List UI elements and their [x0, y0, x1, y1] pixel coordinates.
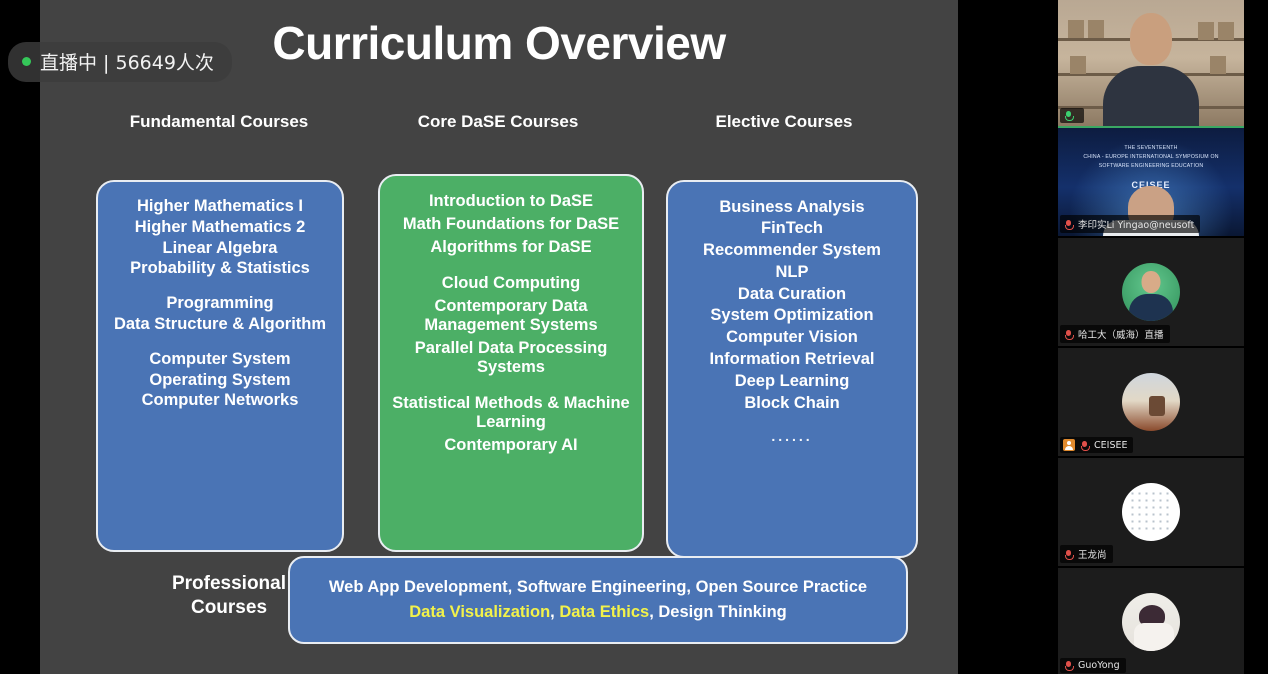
course-item: Business Analysis — [676, 196, 908, 218]
microphone-muted-icon — [1079, 440, 1090, 451]
microphone-muted-icon — [1063, 660, 1074, 671]
course-item: Deep Learning — [676, 370, 908, 392]
participant-name: CEISEE — [1094, 440, 1127, 451]
participant-tile-guoyong[interactable]: GuoYong — [1058, 568, 1244, 674]
professional-label-line1: Professional — [172, 573, 286, 594]
participant-strip[interactable]: THE SEVENTEENTHCHINA - EUROPE INTERNATIO… — [1058, 0, 1244, 674]
live-stream-app: Curriculum Overview Fundamental Courses … — [0, 0, 1268, 674]
microphone-icon — [1063, 110, 1074, 121]
microphone-muted-icon — [1063, 329, 1074, 340]
participant-name-chip: CEISEE — [1060, 437, 1133, 453]
course-item: Computer Networks — [106, 390, 334, 411]
avatar — [1122, 263, 1180, 321]
host-badge-icon — [1063, 439, 1075, 451]
participant-name-chip: 哈工大（威海）直播 — [1060, 325, 1170, 343]
course-item: Contemporary AI — [388, 434, 634, 457]
course-item: Algorithms for DaSE — [388, 236, 634, 259]
participant-name: 哈工大（威海）直播 — [1078, 327, 1164, 341]
course-group: Cloud Computing Contemporary Data Manage… — [388, 272, 634, 378]
course-group: Computer System Operating System Compute… — [106, 349, 334, 411]
course-item: Programming — [106, 293, 334, 314]
professional-line-2: Data Visualization, Data Ethics, Design … — [409, 600, 786, 625]
course-group: Introduction to DaSE Math Foundations fo… — [388, 190, 634, 258]
course-group: ...... — [676, 428, 908, 447]
highlight-data-ethics: Data Ethics — [559, 603, 649, 621]
microphone-muted-icon — [1063, 549, 1074, 560]
course-box-core-dase: Introduction to DaSE Math Foundations fo… — [378, 174, 644, 552]
avatar — [1122, 593, 1180, 651]
course-item: FinTech — [676, 218, 908, 240]
column-heading-elective: Elective Courses — [659, 112, 909, 132]
curriculum-columns: Fundamental Courses Core DaSE Courses El… — [48, 112, 950, 526]
course-item: Block Chain — [676, 392, 908, 414]
highlight-data-visualization: Data Visualization — [409, 603, 550, 621]
avatar — [1122, 373, 1180, 431]
live-indicator-dot — [22, 57, 31, 66]
course-item: Statistical Methods & Machine Learning — [388, 392, 634, 434]
course-item: Higher Mathematics I — [106, 196, 334, 217]
professional-label-line2: Courses — [191, 597, 267, 618]
course-group: Programming Data Structure & Algorithm — [106, 293, 334, 335]
course-item: Computer Vision — [676, 327, 908, 349]
course-item: Operating System — [106, 370, 334, 391]
course-item: Information Retrieval — [676, 349, 908, 371]
participant-name: 李印实Li Yingao@neusoft — [1078, 217, 1194, 231]
professional-courses-row: Professional Courses Web App Development… — [48, 548, 950, 654]
course-boxes: Higher Mathematics I Higher Mathematics … — [48, 146, 950, 526]
participant-tile-li-yingao[interactable]: THE SEVENTEENTHCHINA - EUROPE INTERNATIO… — [1058, 128, 1244, 238]
course-item: Data Curation — [676, 283, 908, 305]
shared-screen-stage[interactable]: Curriculum Overview Fundamental Courses … — [0, 0, 1058, 674]
course-item: Introduction to DaSE — [388, 190, 634, 213]
participant-name: GuoYong — [1078, 660, 1120, 671]
course-group: Business Analysis FinTech Recommender Sy… — [676, 196, 908, 414]
course-item-ellipsis: ...... — [676, 428, 908, 447]
course-group: Statistical Methods & Machine Learning C… — [388, 392, 634, 456]
course-item: Linear Algebra — [106, 238, 334, 259]
professional-courses-box: Web App Development, Software Engineerin… — [288, 556, 908, 644]
course-group: Higher Mathematics I Higher Mathematics … — [106, 196, 334, 279]
column-heading-fundamental: Fundamental Courses — [94, 112, 344, 132]
course-item: Math Foundations for DaSE — [388, 213, 634, 236]
course-item: System Optimization — [676, 305, 908, 327]
course-item: Recommender System — [676, 240, 908, 262]
course-item: Probability & Statistics — [106, 258, 334, 279]
participant-tile-speaker[interactable] — [1058, 0, 1244, 128]
separator-comma: , — [550, 603, 559, 621]
avatar — [1122, 483, 1180, 541]
course-item: Data Structure & Algorithm — [106, 314, 334, 335]
microphone-muted-icon — [1063, 219, 1074, 230]
participant-name-chip: 李印实Li Yingao@neusoft — [1060, 215, 1200, 233]
course-item: Computer System — [106, 349, 334, 370]
participant-name: 王龙尚 — [1078, 547, 1107, 561]
presentation-slide: Curriculum Overview Fundamental Courses … — [40, 0, 958, 674]
course-item: Cloud Computing — [388, 272, 634, 295]
participant-name-chip: GuoYong — [1060, 658, 1126, 673]
live-status-badge: 直播中 | 56649人次 — [8, 42, 232, 82]
participant-video-feed — [1058, 0, 1244, 126]
professional-line-1: Web App Development, Software Engineerin… — [329, 575, 867, 600]
professional-tail: , Design Thinking — [649, 603, 787, 621]
course-box-fundamental: Higher Mathematics I Higher Mathematics … — [96, 180, 344, 552]
participant-name-chip: 王龙尚 — [1060, 545, 1113, 563]
participant-tile-hit-weihai[interactable]: 哈工大（威海）直播 — [1058, 238, 1244, 348]
column-headings: Fundamental Courses Core DaSE Courses El… — [48, 112, 950, 146]
participant-name-chip — [1060, 108, 1084, 123]
participant-tile-wang[interactable]: 王龙尚 — [1058, 458, 1244, 568]
course-item: Contemporary Data Management Systems — [388, 295, 634, 337]
course-item: Higher Mathematics 2 — [106, 217, 334, 238]
course-item: NLP — [676, 261, 908, 283]
live-status-text: 直播中 | 56649人次 — [40, 48, 214, 75]
course-item: Parallel Data Processing Systems — [388, 337, 634, 379]
course-box-elective: Business Analysis FinTech Recommender Sy… — [666, 180, 918, 558]
participant-tile-ceisee[interactable]: CEISEE — [1058, 348, 1244, 458]
column-heading-core-dase: Core DaSE Courses — [373, 112, 623, 132]
poster-text: THE SEVENTEENTHCHINA - EUROPE INTERNATIO… — [1062, 144, 1240, 171]
